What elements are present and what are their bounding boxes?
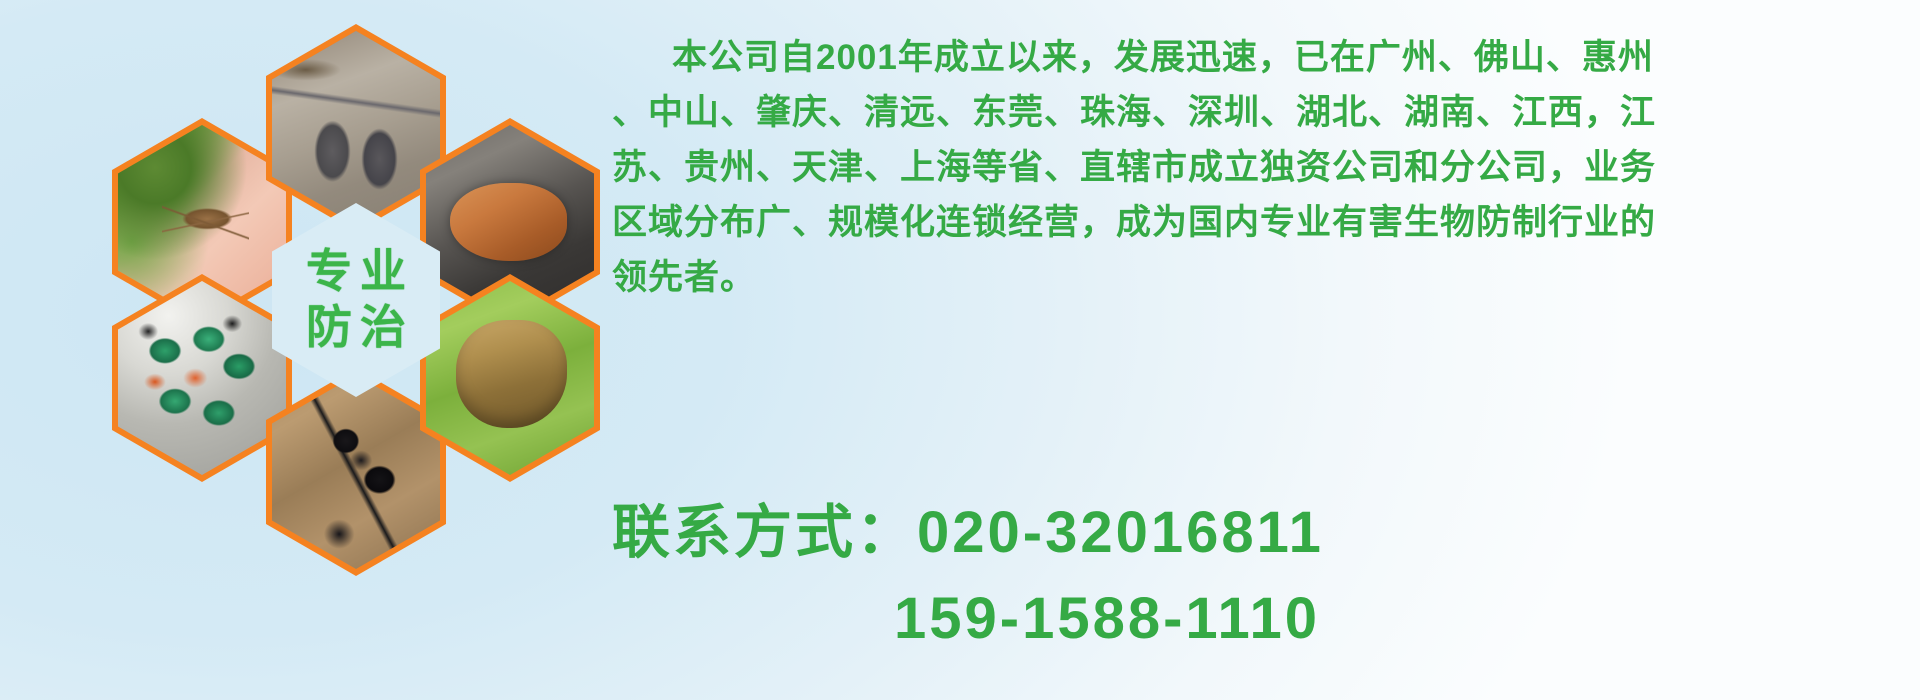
hex-tile-stink-bug[interactable]: [420, 274, 600, 482]
description-line: 本公司自2001年成立以来，发展迅速，已在广州、佛山、惠州: [612, 30, 1912, 85]
description-line: 领先者。: [612, 250, 1912, 305]
hex-inner-flies: [118, 281, 286, 475]
promo-banner: 专业 防治 本公司自2001年成立以来，发展迅速，已在广州、佛山、惠州 、中山、…: [0, 0, 1920, 700]
contact-info: 联系方式：020-32016811 159-1588-1110: [612, 490, 1912, 662]
flies-photo: [118, 281, 286, 475]
description-line: 、中山、肇庆、清远、东莞、珠海、深圳、湖北、湖南、江西，江: [612, 85, 1912, 140]
ant-photo: [272, 375, 440, 569]
slogan-line-1: 专业: [298, 247, 414, 297]
company-description: 本公司自2001年成立以来，发展迅速，已在广州、佛山、惠州 、中山、肇庆、清远、…: [612, 30, 1912, 305]
hex-tile-slogan: 专业 防治: [266, 196, 446, 404]
description-line: 苏、贵州、天津、上海等省、直辖市成立独资公司和分公司，业务: [612, 140, 1912, 195]
rat-photo: [272, 31, 440, 225]
stink-bug-photo: [426, 281, 594, 475]
hex-inner-ant: [272, 375, 440, 569]
contact-mobile[interactable]: 159-1588-1110: [612, 576, 1912, 662]
hex-inner-stink-bug: [426, 281, 594, 475]
hex-inner-rat: [272, 31, 440, 225]
hexagon-cluster: 专业 防治: [84, 0, 604, 572]
contact-landline[interactable]: 联系方式：020-32016811: [612, 490, 1912, 576]
slogan-line-2: 防治: [298, 303, 414, 353]
hex-inner-slogan: 专业 防治: [272, 203, 440, 397]
hex-tile-flies[interactable]: [112, 274, 292, 482]
description-line: 区域分布广、规模化连锁经营，成为国内专业有害生物防制行业的: [612, 195, 1912, 250]
